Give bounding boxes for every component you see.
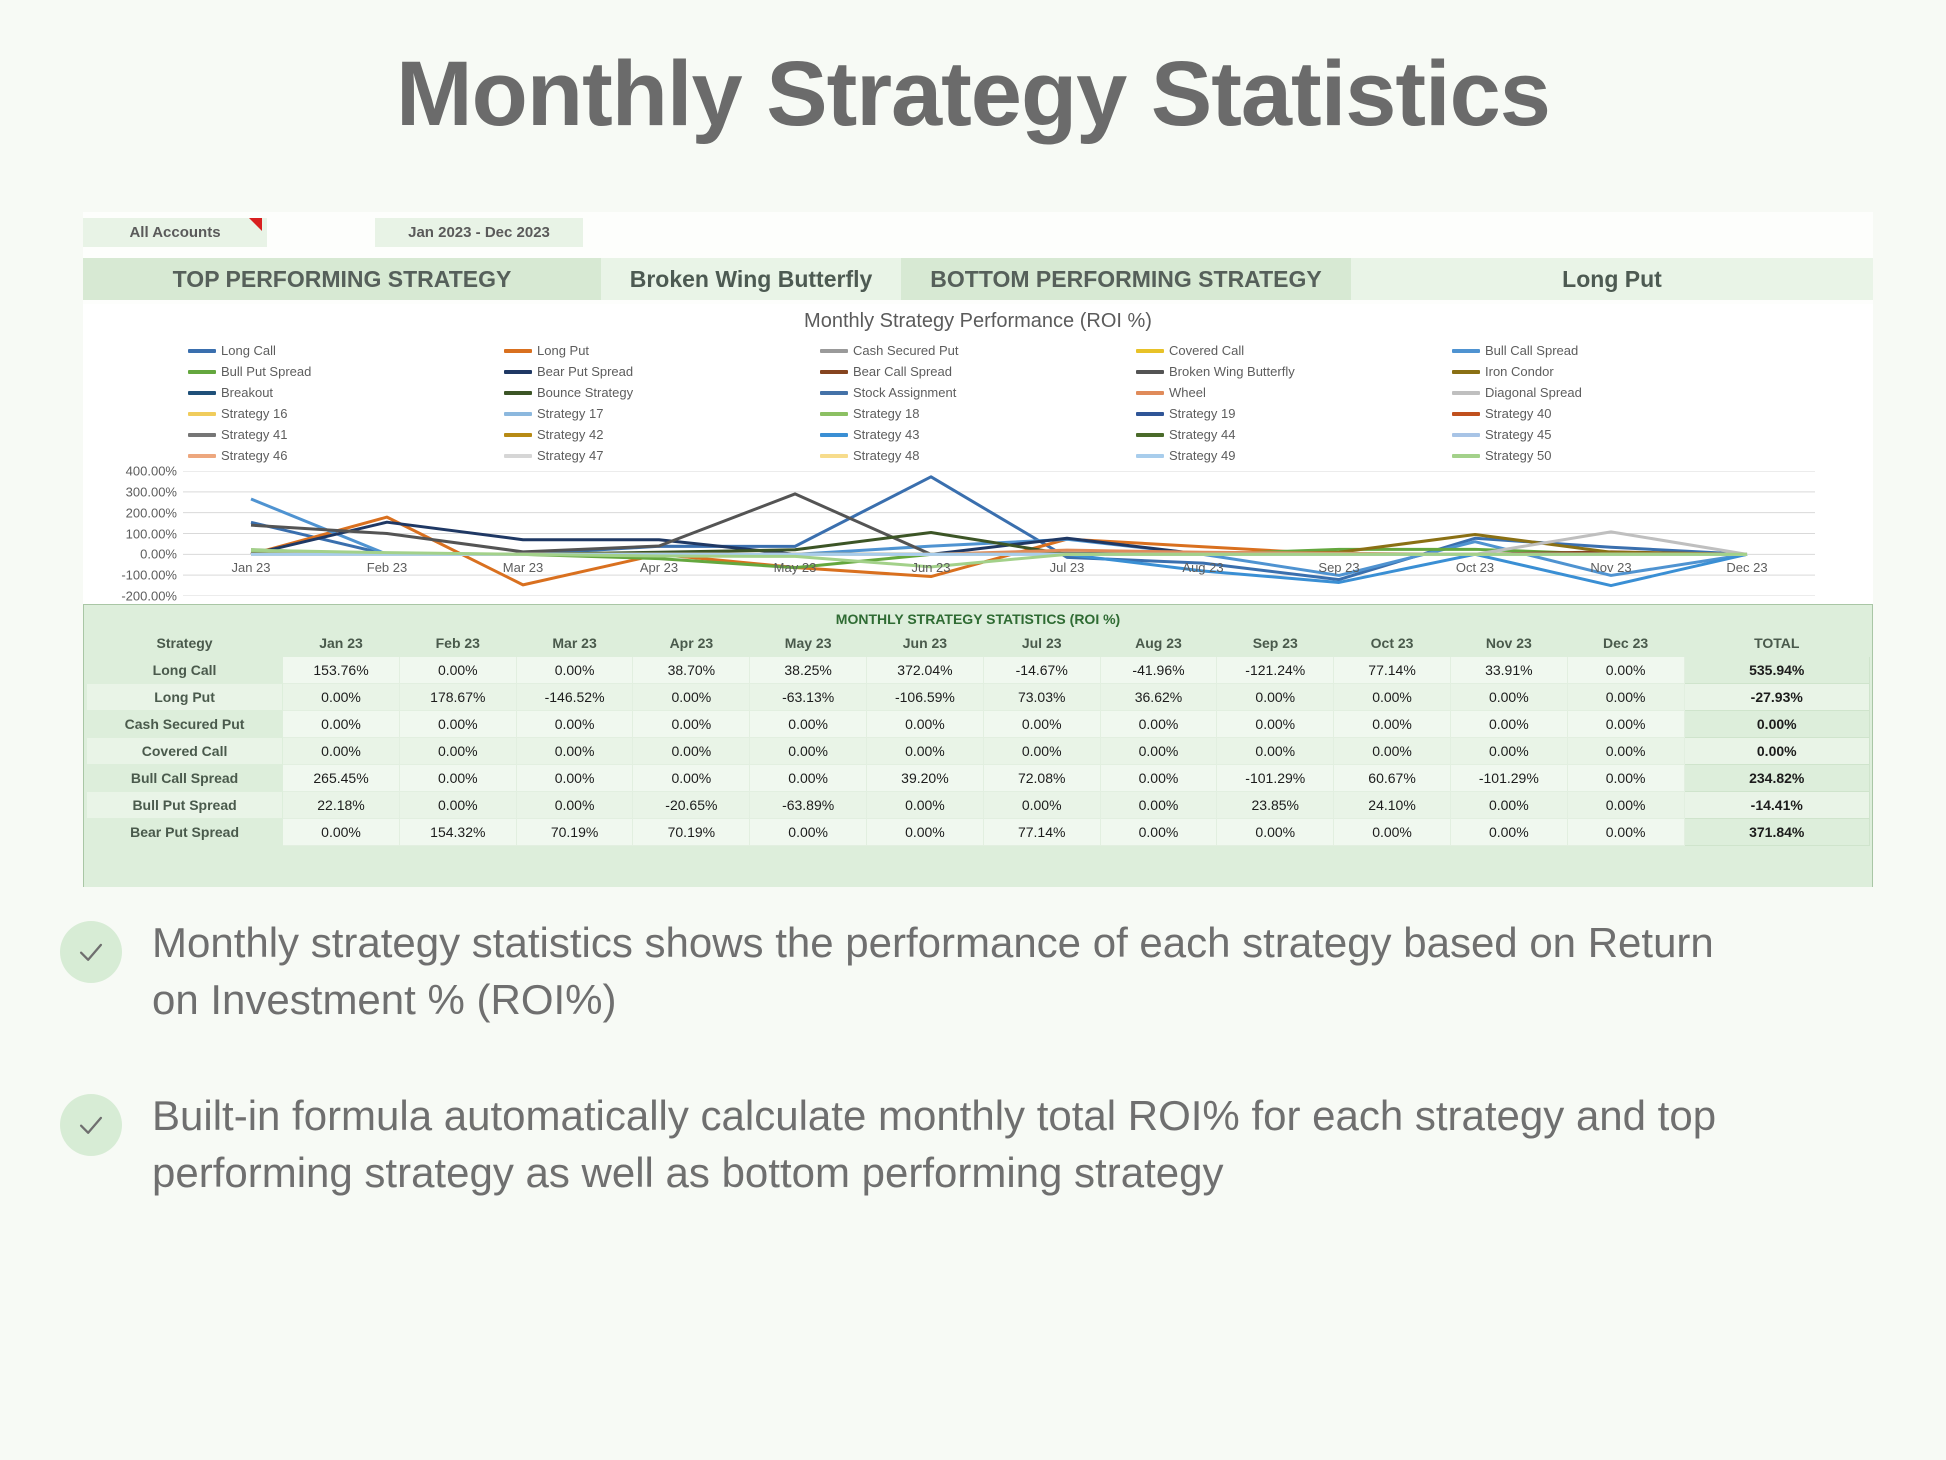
- legend-item[interactable]: Bull Put Spread: [188, 364, 504, 379]
- table-cell-value: 0.00%: [516, 738, 633, 765]
- legend-swatch-icon: [1136, 349, 1164, 353]
- table-cell-value: 0.00%: [1567, 684, 1684, 711]
- legend-label: Strategy 46: [221, 448, 288, 463]
- legend-swatch-icon: [1452, 433, 1480, 437]
- table-cell-value: 154.32%: [399, 819, 516, 846]
- legend-item[interactable]: Wheel: [1136, 385, 1452, 400]
- legend-item[interactable]: Long Call: [188, 343, 504, 358]
- y-axis-tick: 0.00%: [140, 547, 177, 562]
- table-cell-value: 0.00%: [633, 738, 750, 765]
- table-cell-strategy: Bull Call Spread: [87, 765, 283, 792]
- legend-label: Bull Put Spread: [221, 364, 311, 379]
- legend-label: Strategy 18: [853, 406, 920, 421]
- table-cell-value: 0.00%: [983, 738, 1100, 765]
- legend-item[interactable]: Diagonal Spread: [1452, 385, 1768, 400]
- table-cell-value: -63.89%: [750, 792, 867, 819]
- chart-svg: [183, 471, 1815, 596]
- legend-label: Strategy 16: [221, 406, 288, 421]
- dashboard-panel: All Accounts Jan 2023 - Dec 2023 TOP PER…: [83, 212, 1873, 887]
- legend-item[interactable]: Strategy 19: [1136, 406, 1452, 421]
- table-cell-value: 24.10%: [1334, 792, 1451, 819]
- table-cell-value: 0.00%: [516, 657, 633, 684]
- legend-swatch-icon: [1136, 370, 1164, 374]
- legend-item[interactable]: Bear Put Spread: [504, 364, 820, 379]
- table-cell-value: -146.52%: [516, 684, 633, 711]
- legend-swatch-icon: [1136, 433, 1164, 437]
- table-cell-value: -121.24%: [1217, 657, 1334, 684]
- table-cell-value: 38.25%: [750, 657, 867, 684]
- table-cell-value: 0.00%: [283, 711, 400, 738]
- legend-item[interactable]: Strategy 18: [820, 406, 1136, 421]
- legend-item[interactable]: Strategy 40: [1452, 406, 1768, 421]
- legend-swatch-icon: [188, 349, 216, 353]
- legend-item[interactable]: Stock Assignment: [820, 385, 1136, 400]
- legend-swatch-icon: [1452, 349, 1480, 353]
- legend-label: Strategy 50: [1485, 448, 1552, 463]
- table-cell-value: 0.00%: [283, 819, 400, 846]
- table-cell-value: 77.14%: [983, 819, 1100, 846]
- table-cell-value: 38.70%: [633, 657, 750, 684]
- bottom-performing-value: Long Put: [1351, 258, 1873, 300]
- legend-item[interactable]: Broken Wing Butterfly: [1136, 364, 1452, 379]
- legend-swatch-icon: [188, 433, 216, 437]
- bullet-item: Monthly strategy statistics shows the pe…: [60, 915, 1900, 1028]
- table-cell-value: 33.91%: [1450, 657, 1567, 684]
- table-cell-strategy: Long Put: [87, 684, 283, 711]
- legend-item[interactable]: Strategy 47: [504, 448, 820, 463]
- legend-item[interactable]: Strategy 45: [1452, 427, 1768, 442]
- legend-label: Long Put: [537, 343, 589, 358]
- table-cell-value: 0.00%: [1217, 738, 1334, 765]
- legend-swatch-icon: [820, 412, 848, 416]
- kpi-banner: TOP PERFORMING STRATEGY Broken Wing Butt…: [83, 258, 1873, 300]
- table-cell-value: -106.59%: [867, 684, 984, 711]
- table-column-header[interactable]: Sep 23: [1217, 630, 1334, 657]
- legend-item[interactable]: Strategy 16: [188, 406, 504, 421]
- legend-item[interactable]: Strategy 43: [820, 427, 1136, 442]
- table-cell-value: -101.29%: [1217, 765, 1334, 792]
- table-cell-value: 0.00%: [1450, 684, 1567, 711]
- table-cell-strategy: Covered Call: [87, 738, 283, 765]
- table-cell-value: 0.00%: [1100, 738, 1217, 765]
- table-cell-value: 0.00%: [1567, 819, 1684, 846]
- table-row[interactable]: Long Put0.00%178.67%-146.52%0.00%-63.13%…: [87, 684, 1870, 711]
- legend-swatch-icon: [820, 433, 848, 437]
- comment-flag-icon: [249, 218, 262, 231]
- table-body: Long Call153.76%0.00%0.00%38.70%38.25%37…: [87, 657, 1870, 846]
- legend-item[interactable]: Strategy 41: [188, 427, 504, 442]
- table-cell-total: 535.94%: [1684, 657, 1870, 684]
- table-column-header[interactable]: Apr 23: [633, 630, 750, 657]
- table-cell-value: 60.67%: [1334, 765, 1451, 792]
- top-performing-label: TOP PERFORMING STRATEGY: [83, 258, 601, 300]
- table-cell-value: 0.00%: [1567, 792, 1684, 819]
- legend-label: Bear Call Spread: [853, 364, 952, 379]
- legend-label: Strategy 44: [1169, 427, 1236, 442]
- table-cell-value: 39.20%: [867, 765, 984, 792]
- table-cell-value: 0.00%: [399, 765, 516, 792]
- table-cell-total: -27.93%: [1684, 684, 1870, 711]
- legend-swatch-icon: [820, 454, 848, 458]
- legend-swatch-icon: [188, 454, 216, 458]
- legend-swatch-icon: [1452, 391, 1480, 395]
- legend-swatch-icon: [504, 370, 532, 374]
- statistics-table: MONTHLY STRATEGY STATISTICS (ROI %) Stra…: [86, 607, 1870, 846]
- legend-label: Bull Call Spread: [1485, 343, 1578, 358]
- check-icon: [60, 921, 122, 983]
- legend-item[interactable]: Long Put: [504, 343, 820, 358]
- legend-item[interactable]: Bear Call Spread: [820, 364, 1136, 379]
- legend-item[interactable]: Strategy 42: [504, 427, 820, 442]
- legend-swatch-icon: [504, 433, 532, 437]
- legend-item[interactable]: Covered Call: [1136, 343, 1452, 358]
- table-cell-total: 234.82%: [1684, 765, 1870, 792]
- y-axis-tick: 400.00%: [126, 464, 177, 479]
- legend-label: Breakout: [221, 385, 273, 400]
- table-row[interactable]: Long Call153.76%0.00%0.00%38.70%38.25%37…: [87, 657, 1870, 684]
- table-header-row: StrategyJan 23Feb 23Mar 23Apr 23May 23Ju…: [87, 630, 1870, 657]
- legend-item[interactable]: Strategy 48: [820, 448, 1136, 463]
- table-cell-value: 22.18%: [283, 792, 400, 819]
- legend-item[interactable]: Breakout: [188, 385, 504, 400]
- legend-swatch-icon: [504, 349, 532, 353]
- legend-swatch-icon: [820, 391, 848, 395]
- table-cell-value: 0.00%: [1334, 738, 1451, 765]
- legend-swatch-icon: [1136, 412, 1164, 416]
- table-cell-value: -41.96%: [1100, 657, 1217, 684]
- legend-label: Strategy 47: [537, 448, 604, 463]
- table-row[interactable]: Covered Call0.00%0.00%0.00%0.00%0.00%0.0…: [87, 738, 1870, 765]
- table-column-header[interactable]: Aug 23: [1100, 630, 1217, 657]
- legend-item[interactable]: Bull Call Spread: [1452, 343, 1768, 358]
- table-cell-value: 0.00%: [633, 684, 750, 711]
- table-cell-value: 0.00%: [750, 711, 867, 738]
- table-cell-value: 0.00%: [399, 738, 516, 765]
- top-performing-value: Broken Wing Butterfly: [601, 258, 901, 300]
- table-cell-value: 0.00%: [1450, 819, 1567, 846]
- table-row[interactable]: Cash Secured Put0.00%0.00%0.00%0.00%0.00…: [87, 711, 1870, 738]
- legend-item[interactable]: Strategy 44: [1136, 427, 1452, 442]
- table-cell-strategy: Cash Secured Put: [87, 711, 283, 738]
- table-cell-strategy: Bear Put Spread: [87, 819, 283, 846]
- chart-legend: Long CallLong PutCash Secured PutCovered…: [188, 343, 1768, 463]
- legend-label: Strategy 45: [1485, 427, 1552, 442]
- bullet-list: Monthly strategy statistics shows the pe…: [60, 915, 1900, 1262]
- table-cell-value: 72.08%: [983, 765, 1100, 792]
- legend-label: Strategy 48: [853, 448, 920, 463]
- legend-item[interactable]: Iron Condor: [1452, 364, 1768, 379]
- legend-swatch-icon: [504, 454, 532, 458]
- legend-swatch-icon: [504, 391, 532, 395]
- legend-label: Cash Secured Put: [853, 343, 959, 358]
- table-cell-strategy: Bull Put Spread: [87, 792, 283, 819]
- legend-item[interactable]: Bounce Strategy: [504, 385, 820, 400]
- statistics-table-container: MONTHLY STRATEGY STATISTICS (ROI %) Stra…: [83, 604, 1873, 887]
- table-cell-value: 0.00%: [1217, 819, 1334, 846]
- table-cell-value: 0.00%: [1334, 711, 1451, 738]
- table-cell-value: 178.67%: [399, 684, 516, 711]
- table-cell-value: 0.00%: [1100, 765, 1217, 792]
- legend-label: Strategy 49: [1169, 448, 1236, 463]
- table-cell-value: 0.00%: [516, 765, 633, 792]
- table-cell-value: 0.00%: [399, 657, 516, 684]
- table-row[interactable]: Bull Call Spread265.45%0.00%0.00%0.00%0.…: [87, 765, 1870, 792]
- legend-label: Strategy 40: [1485, 406, 1552, 421]
- legend-label: Strategy 17: [537, 406, 604, 421]
- legend-item[interactable]: Cash Secured Put: [820, 343, 1136, 358]
- legend-swatch-icon: [504, 412, 532, 416]
- table-cell-value: 0.00%: [867, 738, 984, 765]
- legend-item[interactable]: Strategy 49: [1136, 448, 1452, 463]
- legend-label: Diagonal Spread: [1485, 385, 1582, 400]
- table-cell-strategy: Long Call: [87, 657, 283, 684]
- table-cell-value: 0.00%: [399, 792, 516, 819]
- table-cell-value: 0.00%: [516, 792, 633, 819]
- table-cell-value: 0.00%: [283, 684, 400, 711]
- table-column-header[interactable]: Mar 23: [516, 630, 633, 657]
- y-axis-tick: 100.00%: [126, 526, 177, 541]
- legend-label: Bear Put Spread: [537, 364, 633, 379]
- legend-swatch-icon: [1452, 454, 1480, 458]
- table-column-header[interactable]: Strategy: [87, 630, 283, 657]
- legend-label: Long Call: [221, 343, 276, 358]
- table-cell-total: 371.84%: [1684, 819, 1870, 846]
- table-cell-value: 0.00%: [1334, 819, 1451, 846]
- table-column-header[interactable]: Dec 23: [1567, 630, 1684, 657]
- legend-item[interactable]: Strategy 46: [188, 448, 504, 463]
- table-column-header[interactable]: TOTAL: [1684, 630, 1870, 657]
- filter-bar: All Accounts Jan 2023 - Dec 2023: [83, 212, 1873, 248]
- legend-label: Strategy 19: [1169, 406, 1236, 421]
- table-caption: MONTHLY STRATEGY STATISTICS (ROI %): [86, 607, 1870, 629]
- performance-chart: Monthly Strategy Performance (ROI %) Lon…: [83, 304, 1873, 634]
- table-cell-value: 0.00%: [750, 738, 867, 765]
- table-cell-value: -14.67%: [983, 657, 1100, 684]
- table-cell-value: 0.00%: [750, 765, 867, 792]
- bullet-text: Built-in formula automatically calculate…: [152, 1088, 1752, 1201]
- table-cell-value: 0.00%: [516, 711, 633, 738]
- table-cell-value: 265.45%: [283, 765, 400, 792]
- table-row[interactable]: Bear Put Spread0.00%154.32%70.19%70.19%0…: [87, 819, 1870, 846]
- legend-label: Iron Condor: [1485, 364, 1554, 379]
- table-cell-total: 0.00%: [1684, 711, 1870, 738]
- table-cell-total: -14.41%: [1684, 792, 1870, 819]
- legend-swatch-icon: [1452, 370, 1480, 374]
- legend-swatch-icon: [1136, 454, 1164, 458]
- table-cell-value: 0.00%: [1217, 684, 1334, 711]
- table-cell-value: 70.19%: [516, 819, 633, 846]
- table-cell-value: -20.65%: [633, 792, 750, 819]
- table-cell-value: 0.00%: [983, 711, 1100, 738]
- bullet-item: Built-in formula automatically calculate…: [60, 1088, 1900, 1201]
- legend-label: Strategy 41: [221, 427, 288, 442]
- table-cell-value: 0.00%: [283, 738, 400, 765]
- chart-plot: 400.00%300.00%200.00%100.00%0.00%-100.00…: [83, 471, 1873, 596]
- legend-swatch-icon: [188, 370, 216, 374]
- y-axis-tick: -100.00%: [121, 568, 177, 583]
- legend-label: Strategy 42: [537, 427, 604, 442]
- table-cell-value: 0.00%: [867, 792, 984, 819]
- legend-item[interactable]: Strategy 50: [1452, 448, 1768, 463]
- table-cell-value: 0.00%: [1567, 711, 1684, 738]
- legend-label: Wheel: [1169, 385, 1206, 400]
- bottom-performing-label: BOTTOM PERFORMING STRATEGY: [901, 258, 1351, 300]
- legend-swatch-icon: [1136, 391, 1164, 395]
- table-cell-value: 0.00%: [1217, 711, 1334, 738]
- y-axis-tick: 200.00%: [126, 505, 177, 520]
- table-cell-value: 0.00%: [1100, 711, 1217, 738]
- table-cell-value: 73.03%: [983, 684, 1100, 711]
- table-cell-value: 0.00%: [1334, 684, 1451, 711]
- table-cell-value: -101.29%: [1450, 765, 1567, 792]
- table-cell-value: 36.62%: [1100, 684, 1217, 711]
- legend-label: Bounce Strategy: [537, 385, 633, 400]
- table-row[interactable]: Bull Put Spread22.18%0.00%0.00%-20.65%-6…: [87, 792, 1870, 819]
- table-cell-value: 0.00%: [867, 819, 984, 846]
- table-column-header[interactable]: Jan 23: [283, 630, 400, 657]
- legend-swatch-icon: [820, 370, 848, 374]
- table-cell-value: 0.00%: [399, 711, 516, 738]
- table-column-header[interactable]: Jul 23: [983, 630, 1100, 657]
- check-icon: [60, 1094, 122, 1156]
- page-title: Monthly Strategy Statistics: [0, 0, 1946, 140]
- chart-series-line: [251, 522, 1747, 554]
- chart-title: Monthly Strategy Performance (ROI %): [83, 304, 1873, 333]
- table-cell-total: 0.00%: [1684, 738, 1870, 765]
- table-cell-value: 153.76%: [283, 657, 400, 684]
- table-cell-value: 0.00%: [1100, 819, 1217, 846]
- bullet-text: Monthly strategy statistics shows the pe…: [152, 915, 1752, 1028]
- legend-label: Covered Call: [1169, 343, 1244, 358]
- table-cell-value: -63.13%: [750, 684, 867, 711]
- y-axis-tick: 300.00%: [126, 484, 177, 499]
- period-filter-chip[interactable]: Jan 2023 - Dec 2023: [375, 218, 583, 247]
- table-cell-value: 23.85%: [1217, 792, 1334, 819]
- table-column-header[interactable]: Nov 23: [1450, 630, 1567, 657]
- table-column-header[interactable]: May 23: [750, 630, 867, 657]
- table-cell-value: 0.00%: [633, 711, 750, 738]
- legend-label: Broken Wing Butterfly: [1169, 364, 1295, 379]
- table-cell-value: 0.00%: [1100, 792, 1217, 819]
- table-cell-value: 0.00%: [1567, 657, 1684, 684]
- table-cell-value: 0.00%: [1450, 711, 1567, 738]
- y-axis: 400.00%300.00%200.00%100.00%0.00%-100.00…: [83, 471, 183, 596]
- table-cell-value: 0.00%: [1450, 738, 1567, 765]
- table-cell-value: 0.00%: [1450, 792, 1567, 819]
- table-column-header[interactable]: Feb 23: [399, 630, 516, 657]
- table-cell-value: 77.14%: [1334, 657, 1451, 684]
- table-column-header[interactable]: Oct 23: [1334, 630, 1451, 657]
- legend-swatch-icon: [820, 349, 848, 353]
- plot-area: [183, 471, 1815, 596]
- table-column-header[interactable]: Jun 23: [867, 630, 984, 657]
- legend-item[interactable]: Strategy 17: [504, 406, 820, 421]
- legend-swatch-icon: [188, 412, 216, 416]
- table-cell-value: 0.00%: [633, 765, 750, 792]
- table-cell-value: 372.04%: [867, 657, 984, 684]
- table-cell-value: 0.00%: [750, 819, 867, 846]
- account-filter-chip[interactable]: All Accounts: [83, 218, 267, 247]
- y-axis-tick: -200.00%: [121, 589, 177, 604]
- table-cell-value: 70.19%: [633, 819, 750, 846]
- legend-swatch-icon: [188, 391, 216, 395]
- legend-swatch-icon: [1452, 412, 1480, 416]
- table-cell-value: 0.00%: [983, 792, 1100, 819]
- table-cell-value: 0.00%: [1567, 765, 1684, 792]
- table-cell-value: 0.00%: [1567, 738, 1684, 765]
- table-cell-value: 0.00%: [867, 711, 984, 738]
- legend-label: Strategy 43: [853, 427, 920, 442]
- legend-label: Stock Assignment: [853, 385, 956, 400]
